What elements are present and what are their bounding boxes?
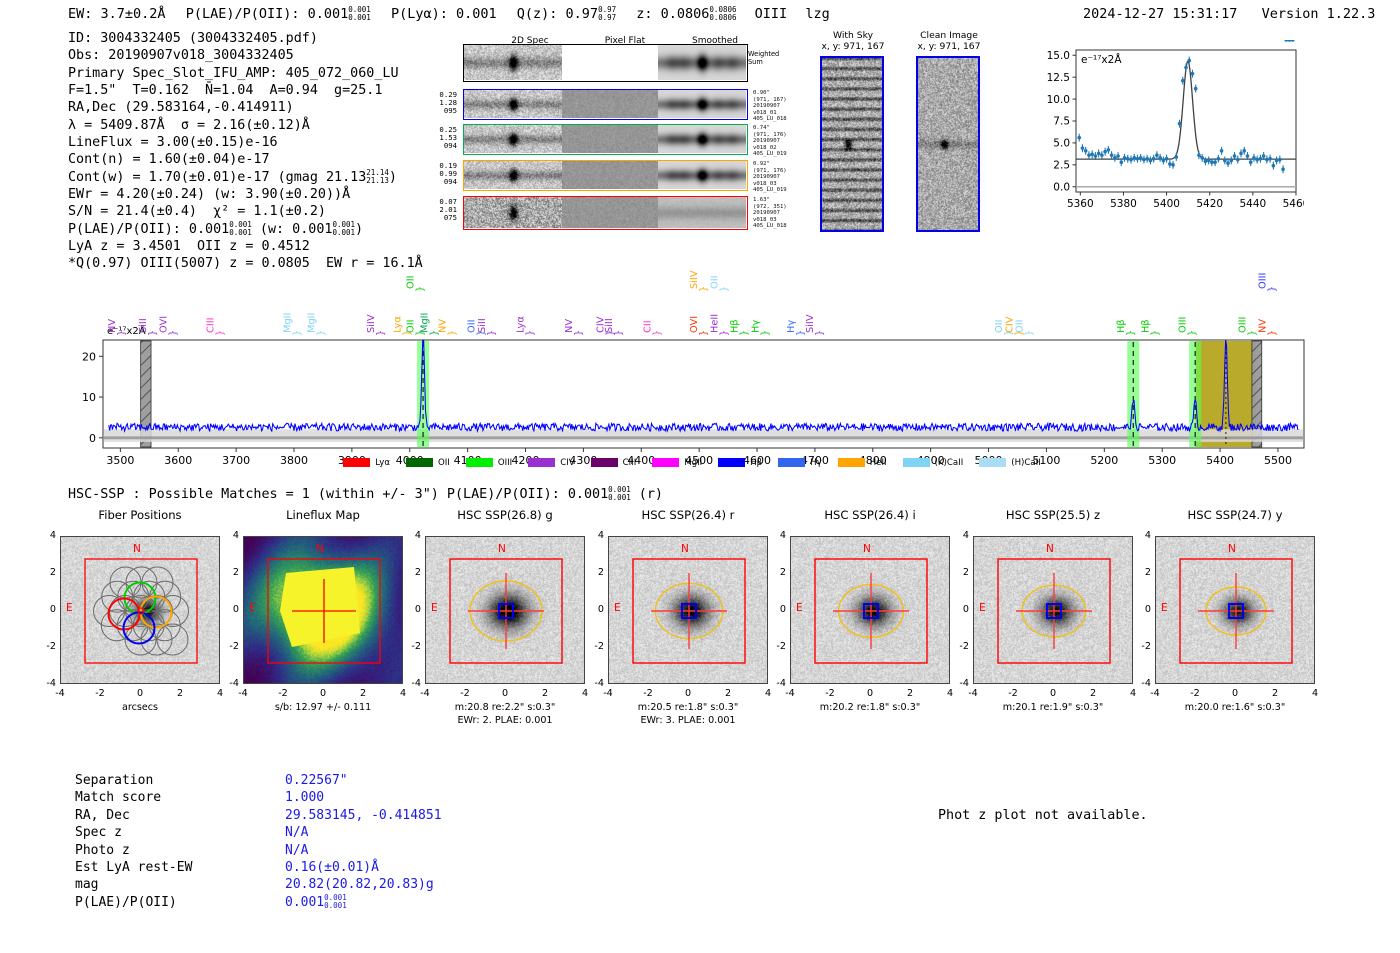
legend-swatch (652, 458, 679, 467)
hsc-panel-row: Fiber Positions420-2-4-4-2024NEarcsecsLi… (0, 508, 1400, 738)
spec2d-smoothed (658, 161, 746, 190)
match-table-key: mag (75, 876, 192, 893)
hsc-axis-ytick: 0 (768, 604, 786, 615)
legend-item: OII (406, 452, 466, 471)
compass-east: E (614, 602, 621, 614)
hsc-axis-xtick: -4 (415, 688, 435, 699)
svg-text:0: 0 (89, 432, 96, 445)
hsc-axis-xtick: 2 (170, 688, 190, 699)
version-label: Version 1.22.3 (1246, 6, 1376, 22)
legend-item: Hγ (778, 452, 838, 471)
hsc-axis-xtick: 4 (1305, 688, 1325, 699)
spectrum-line-label: SiII (477, 318, 488, 333)
hsc-axis-xtick: 0 (1043, 688, 1063, 699)
svg-text:}: } (1125, 330, 1136, 336)
hsc-panel-image (608, 536, 768, 684)
legend-item: CIII (591, 452, 653, 471)
spectrum-line-label: MgII (419, 313, 430, 333)
spec2d-row (463, 124, 748, 155)
hsc-axis-ytick: -2 (1133, 641, 1151, 652)
svg-text:}: } (739, 330, 750, 336)
spectrum-line-label: NV (1258, 319, 1269, 333)
hsc-axis-xtick: 2 (353, 688, 373, 699)
hsc-axis-ytick: 2 (403, 567, 421, 578)
spectrum-line-label: OII (994, 320, 1005, 334)
hsc-axis-xtick: -4 (50, 688, 70, 699)
lineflux-overlay (244, 537, 402, 683)
hsc-axis-ytick: 2 (586, 567, 604, 578)
hsc-axis-ytick: -2 (768, 641, 786, 652)
spec2d-pixelflat (562, 90, 658, 119)
hsc-axis-xtick: 0 (1225, 688, 1245, 699)
svg-text:10: 10 (82, 391, 96, 404)
svg-text:}: } (215, 330, 226, 336)
svg-text:7.5: 7.5 (1053, 116, 1070, 128)
hsc-panel-image (973, 536, 1133, 684)
hsc-axis-xtick: 4 (758, 688, 778, 699)
spec2d-pixelflat (562, 125, 658, 154)
match-table-key: Photo z (75, 842, 192, 859)
legend-label: HeII (865, 458, 903, 468)
legend-swatch (466, 458, 493, 467)
weighted-sum-label: Weighted Sum (748, 50, 779, 66)
legend-item: (H)CaII (979, 452, 1057, 471)
legend-label: OII (433, 458, 466, 468)
hsc-headline-text: HSC-SSP : Possible Matches = 1 (within +… (68, 487, 608, 502)
svg-text:}: } (447, 330, 458, 336)
hsc-axis-ytick: -2 (951, 641, 969, 652)
sky-panel-title-text: Clean Image (906, 30, 992, 41)
svg-text:}: } (614, 330, 625, 336)
svg-text:}: } (292, 330, 303, 336)
hsc-overlay (791, 537, 949, 683)
svg-text:}: } (1267, 330, 1278, 336)
spectrum-line-label: OVI (158, 316, 169, 333)
spectrum-line-label: CIII (205, 317, 216, 333)
legend-swatch (903, 458, 930, 467)
compass-north: N (1046, 543, 1054, 555)
hsc-axis-xtick: 2 (1083, 688, 1103, 699)
hsc-headline-frac: 0.0010.001 (608, 486, 631, 502)
hsc-axis-xtick: 0 (130, 688, 150, 699)
svg-text:5.0: 5.0 (1053, 138, 1070, 150)
hsc-axis-xtick: 4 (940, 688, 960, 699)
spectrum-line-label: HeII (709, 314, 720, 333)
spectrum-line-label: Hβ (1141, 319, 1152, 333)
hsc-axis-xtick: 2 (900, 688, 920, 699)
svg-text:}: } (1150, 330, 1161, 336)
sky-panel-coords: x, y: 971, 167 (906, 41, 992, 52)
hsc-axis-ytick: 4 (38, 530, 56, 541)
spec2d-raw (464, 90, 562, 119)
hsc-axis-xtick: 2 (535, 688, 555, 699)
spec2d-row-metrics: 0.19 0.99 094 (415, 162, 457, 187)
svg-text:2.5: 2.5 (1053, 160, 1070, 172)
spec2d-smoothed (658, 197, 746, 229)
svg-text:}: } (148, 330, 159, 336)
spectrum-svg: 3500360037003800390040004100420043004400… (0, 268, 1400, 478)
hsc-axis-ytick: 4 (768, 530, 786, 541)
svg-text:5380: 5380 (1110, 198, 1137, 210)
hsc-axis-ytick: 4 (221, 530, 239, 541)
hsc-axis-xtick: -4 (780, 688, 800, 699)
spec2d-row (463, 89, 748, 120)
sky-panel-image (820, 56, 884, 232)
spec2d-raw (464, 45, 562, 81)
hsc-axis-xtick: -2 (1185, 688, 1205, 699)
legend-swatch (343, 458, 370, 467)
hsc-axis-xtick: -2 (820, 688, 840, 699)
sky-panel-coords: x, y: 971, 167 (810, 41, 896, 52)
spectrum-line-label: OIII (1178, 317, 1189, 333)
match-table-key: Est LyA rest-EW (75, 859, 192, 876)
spectrum-line-label: OIII (1237, 317, 1248, 333)
spectrum-line-label: Hγ (786, 320, 797, 333)
spec2d-pixelflat (562, 161, 658, 190)
svg-text:5460: 5460 (1283, 198, 1304, 210)
hsc-axis-xtick: 4 (210, 688, 230, 699)
hsc-axis-ytick: 2 (951, 567, 969, 578)
spectrum-legend: LyαOIIOIIICIVCIIIMgIIHβHγHeII(K)CaII(H)C… (0, 452, 1400, 471)
hsc-overlay (609, 537, 767, 683)
hsc-axis-ytick: 0 (951, 604, 969, 615)
spec2d-block: 2D Spec Pixel Flat Smoothed Weighted Sum… (0, 0, 820, 260)
svg-text:}: } (574, 330, 585, 336)
legend-item: Lyα (343, 452, 406, 471)
match-table-value: 20.82(20.82,20.83)g (285, 876, 442, 893)
svg-text:10.0: 10.0 (1047, 94, 1070, 106)
sky-panels-block: With Skyx, y: 971, 167Clean Imagex, y: 9… (810, 30, 1025, 255)
spectrum-line-label: OII (1014, 319, 1025, 333)
hsc-axis-ytick: -2 (221, 641, 239, 652)
legend-swatch (979, 458, 1006, 467)
spec2d-row-metrics: 0.07 2.01 075 (415, 198, 457, 223)
hsc-panel-image (243, 536, 403, 684)
hsc-overlay (426, 537, 584, 683)
hsc-axis-ytick: 0 (586, 604, 604, 615)
match-table-value: 0.16(±0.01)Å (285, 859, 442, 876)
legend-swatch (591, 458, 618, 467)
spectrum-line-label: SiII (604, 318, 615, 333)
svg-text:}: } (316, 330, 327, 336)
match-table-key: Match score (75, 789, 192, 806)
svg-text:}: } (415, 286, 426, 292)
hsc-axis-xtick: 4 (575, 688, 595, 699)
line-fit-svg: 5360538054005420544054600.02.55.07.510.0… (1032, 40, 1304, 220)
match-table-value: 0.22567" (285, 772, 442, 789)
legend-item: MgII (652, 452, 718, 471)
svg-text:}: } (652, 330, 663, 336)
spectrum-line-label: OII (406, 276, 417, 290)
hsc-axis-ytick: 2 (768, 567, 786, 578)
hsc-overlay (974, 537, 1132, 683)
legend-swatch (778, 458, 805, 467)
hsc-panel-image (790, 536, 950, 684)
sky-panel-image (916, 56, 980, 232)
svg-text:20: 20 (82, 350, 96, 363)
spec2d-row-metrics: 0.29 1.28 095 (415, 91, 457, 116)
hsc-panel-caption-1: m:20.0 re:1.6" s:0.3" (1121, 702, 1349, 713)
compass-north: N (498, 543, 506, 555)
spec2d-row (463, 44, 748, 82)
header-meta: 2024-12-27 15:31:17 Version 1.22.3 (1083, 6, 1375, 22)
timestamp: 2024-12-27 15:31:17 (1083, 6, 1237, 22)
sky-panel-title-text: With Sky (810, 30, 896, 41)
hsc-axis-xtick: 0 (313, 688, 333, 699)
spec2d-smoothed (658, 90, 746, 119)
spectrum-line-label: OIII (1258, 273, 1269, 289)
hsc-panel-image (60, 536, 220, 684)
svg-text:}: } (814, 330, 825, 336)
hsc-axis-xtick: 0 (678, 688, 698, 699)
spectrum-line-label: Hβ (1116, 319, 1127, 333)
hsc-axis-xtick: -2 (273, 688, 293, 699)
compass-east: E (431, 602, 438, 614)
svg-text:}: } (525, 330, 536, 336)
spectrum-line-label: Lyα (392, 316, 403, 333)
svg-text:5360: 5360 (1067, 198, 1094, 210)
compass-north: N (316, 543, 324, 555)
hsc-axis-ytick: 4 (403, 530, 421, 541)
svg-text:5420: 5420 (1196, 198, 1223, 210)
compass-north: N (681, 543, 689, 555)
spec2d-row (463, 160, 748, 191)
svg-text:}: } (116, 330, 127, 336)
spec2d-row-id: 0.74" (971, 176) 20190907 v018_02 405_LU… (753, 125, 787, 158)
hsc-axis-ytick: 0 (403, 604, 421, 615)
match-table-value: N/A (285, 842, 442, 859)
spec2d-pixelflat (562, 197, 658, 229)
spectrum-line-label: NV (437, 319, 448, 333)
svg-text:5400: 5400 (1153, 198, 1180, 210)
line-fit-annotation: e⁻¹⁷x2Å (1081, 53, 1122, 66)
legend-label: CIV (555, 458, 590, 468)
compass-east: E (796, 602, 803, 614)
hsc-headline-tail: (r) (639, 487, 663, 502)
match-table-key: Separation (75, 772, 192, 789)
hsc-axis-ytick: 2 (1133, 567, 1151, 578)
hsc-axis-xtick: 2 (1265, 688, 1285, 699)
spec2d-raw (464, 197, 562, 229)
legend-label: (H)CaII (1006, 458, 1057, 468)
hsc-axis-ytick: -2 (586, 641, 604, 652)
spectrum-line-label: MgII (282, 313, 293, 333)
legend-label: MgII (679, 458, 718, 468)
photz-note: Phot z plot not available. (938, 808, 1148, 823)
compass-north: N (863, 543, 871, 555)
svg-text:}: } (719, 286, 730, 292)
hsc-axis-ytick: -2 (38, 641, 56, 652)
svg-text:}: } (719, 330, 730, 336)
hsc-panel-image (425, 536, 585, 684)
hsc-axis-xtick: 4 (1123, 688, 1143, 699)
legend-item: HeII (838, 452, 903, 471)
spec2d-row-id: 0.92" (971, 176) 20190907 v018_03 405_LU… (753, 161, 787, 194)
hsc-axis-ytick: 0 (1133, 604, 1151, 615)
legend-item: (K)CaII (903, 452, 980, 471)
spectrum-line-label: OII (466, 320, 477, 334)
svg-text:12.5: 12.5 (1047, 72, 1070, 84)
spectrum-line-label: Lyα (516, 316, 527, 333)
hsc-axis-ytick: -2 (403, 641, 421, 652)
legend-label: OIII (493, 458, 528, 468)
full-spectrum-plot: 3500360037003800390040004100420043004400… (0, 268, 1400, 478)
emission-line-fit-plot: 5360538054005420544054600.02.55.07.510.0… (1032, 40, 1304, 220)
spec2d-raw (464, 125, 562, 154)
hsc-panel-title: HSC SSP(24.7) y (1121, 508, 1349, 522)
hsc-axis-ytick: 4 (1133, 530, 1151, 541)
svg-text:}: } (1247, 330, 1258, 336)
hsc-axis-xtick: 0 (860, 688, 880, 699)
match-table-value: N/A (285, 824, 442, 841)
match-table-keys: SeparationMatch scoreRA, DecSpec zPhoto … (75, 772, 192, 911)
svg-text:}: } (168, 330, 179, 336)
spec2d-row-id: 0.90" (971, 167) 20190907 v018_01 405_LU… (753, 90, 787, 123)
match-table-value: 1.000 (285, 789, 442, 806)
hsc-overlay (61, 537, 219, 683)
spectrum-line-label: NV (107, 319, 118, 333)
match-table-value: 0.0010.0010.001 (285, 894, 442, 911)
hsc-axis-xtick: -2 (90, 688, 110, 699)
compass-east: E (249, 602, 256, 614)
spectrum-line-label: SiIV (805, 314, 816, 333)
match-table-key: RA, Dec (75, 807, 192, 824)
svg-text:}: } (699, 286, 710, 292)
hsc-axis-xtick: -2 (638, 688, 658, 699)
spectrum-line-label: SiII (138, 318, 149, 333)
compass-east: E (66, 602, 73, 614)
spec2d-smoothed (658, 45, 746, 81)
match-table-value: 29.583145, -0.414851 (285, 807, 442, 824)
match-table-key: Spec z (75, 824, 192, 841)
spectrum-line-label: SiIV (689, 270, 700, 289)
spectrum-line-label: OVI (689, 316, 700, 333)
compass-east: E (979, 602, 986, 614)
hsc-axis-xtick: -4 (1145, 688, 1165, 699)
spec2d-row (463, 196, 748, 230)
legend-label: CIII (618, 458, 653, 468)
spectrum-line-label: Hβ (730, 319, 741, 333)
svg-text:}: } (760, 330, 771, 336)
legend-swatch (838, 458, 865, 467)
sky-panel-title: Clean Imagex, y: 971, 167 (906, 30, 992, 52)
sky-panel-title: With Skyx, y: 971, 167 (810, 30, 896, 52)
legend-swatch (406, 458, 433, 467)
hsc-panel-caption-2: EWr: 3. PLAE: 0.001 (574, 715, 802, 726)
hsc-overlay (1156, 537, 1314, 683)
hsc-axis-xtick: 2 (718, 688, 738, 699)
hsc-axis-ytick: 4 (586, 530, 604, 541)
svg-text:}: } (1024, 330, 1035, 336)
compass-north: N (133, 543, 141, 555)
spec2d-row-id: 1.63" (972, 351) 20190907 v018_03 405_LU… (753, 197, 787, 230)
match-table-key: P(LAE)/P(OII) (75, 894, 192, 911)
hsc-headline: HSC-SSP : Possible Matches = 1 (within +… (68, 486, 663, 502)
legend-item: OIII (466, 452, 528, 471)
hsc-axis-xtick: -4 (963, 688, 983, 699)
hsc-axis-ytick: 2 (38, 567, 56, 578)
legend-item: CIV (528, 452, 590, 471)
svg-text:}: } (1267, 286, 1278, 292)
hsc-axis-xtick: -2 (455, 688, 475, 699)
legend-swatch (528, 458, 555, 467)
svg-text:}: } (486, 330, 497, 336)
legend-item: Hβ (718, 452, 778, 471)
spectrum-line-label: Hγ (751, 320, 762, 333)
spectrum-line-label: OII (406, 320, 417, 334)
svg-text:15.0: 15.0 (1047, 50, 1070, 62)
hsc-axis-xtick: 4 (393, 688, 413, 699)
spec2d-row-metrics: 0.25 1.53 094 (415, 126, 457, 151)
spectrum-line-label: SiIV (366, 314, 377, 333)
match-table-values: 0.22567"1.00029.583145, -0.414851N/AN/A0… (285, 772, 442, 911)
legend-label: Hβ (745, 458, 778, 468)
spec2d-smoothed (658, 125, 746, 154)
spectrum-line-label: CII (642, 320, 653, 333)
legend-label: (K)CaII (930, 458, 980, 468)
hsc-axis-xtick: -2 (1003, 688, 1023, 699)
hsc-axis-ytick: 2 (221, 567, 239, 578)
hsc-axis-ytick: 0 (38, 604, 56, 615)
compass-east: E (1161, 602, 1168, 614)
svg-text:}: } (1187, 330, 1198, 336)
spec2d-raw (464, 161, 562, 190)
hsc-axis-xtick: -4 (233, 688, 253, 699)
svg-text:}: } (376, 330, 387, 336)
legend-swatch (718, 458, 745, 467)
spectrum-line-label: OII (709, 276, 720, 290)
spectrum-line-label: NV (564, 319, 575, 333)
svg-text:0.0: 0.0 (1053, 181, 1070, 193)
legend-label: Hγ (805, 458, 838, 468)
hsc-axis-xtick: 0 (495, 688, 515, 699)
spectrum-line-label: MgII (307, 313, 318, 333)
svg-text:5440: 5440 (1239, 198, 1266, 210)
hsc-axis-xtick: -4 (598, 688, 618, 699)
svg-text:}: } (699, 330, 710, 336)
compass-north: N (1228, 543, 1236, 555)
legend-label: Lyα (370, 458, 406, 468)
hsc-axis-ytick: 4 (951, 530, 969, 541)
hsc-axis-ytick: 0 (221, 604, 239, 615)
hsc-panel-image (1155, 536, 1315, 684)
spec2d-pixelflat (562, 45, 658, 81)
